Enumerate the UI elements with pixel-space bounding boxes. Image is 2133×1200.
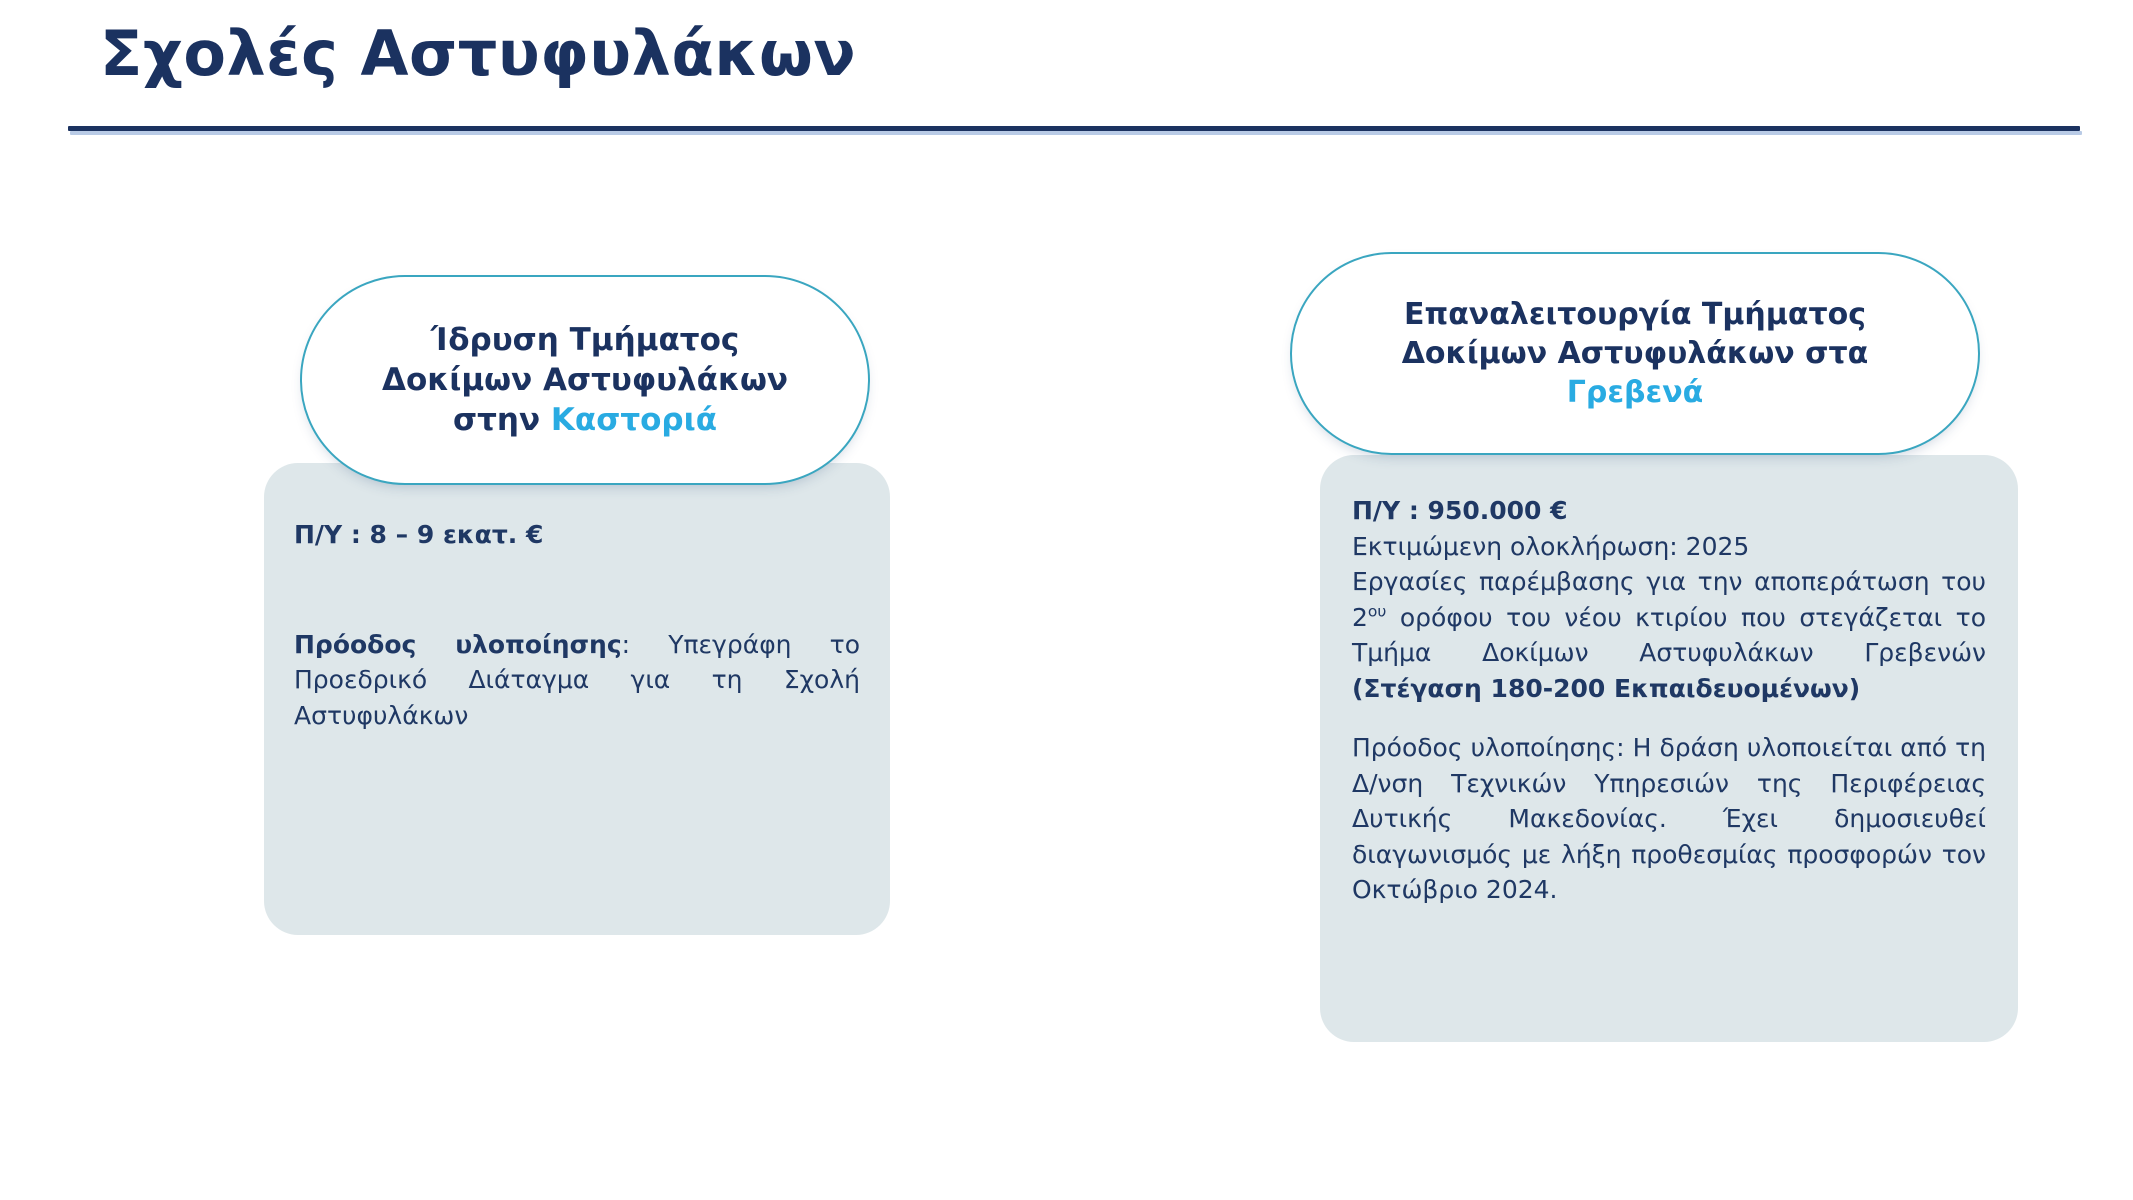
card-grevena-description: Εργασίες παρέμβασης για την αποπεράτωση …	[1352, 564, 1986, 706]
card-grevena-header-pill: Επαναλειτουργία Τμήματος Δοκίμων Αστυφυλ…	[1290, 252, 1980, 455]
card-kastoria-header-location: Καστοριά	[551, 402, 717, 438]
card-grevena: Π/Υ : 950.000 € Εκτιμώμενη ολοκλήρωση: 2…	[1290, 252, 2018, 1042]
card-kastoria: Π/Υ : 8 – 9 εκατ. € Πρόοδος υλοποίησης: …	[264, 275, 890, 935]
card-grevena-estimated-completion: Εκτιμώμενη ολοκλήρωση: 2025	[1352, 529, 1986, 565]
title-divider	[68, 126, 2080, 131]
card-grevena-header-text: Επαναλειτουργία Τμήματος Δοκίμων Αστυφυλ…	[1376, 295, 1895, 412]
card-kastoria-header-pill: Ίδρυση Τμήματος Δοκίμων Αστυφυλάκων στην…	[300, 275, 870, 485]
card-grevena-budget: Π/Υ : 950.000 €	[1352, 493, 1986, 529]
card-grevena-header-line2: Δοκίμων Αστυφυλάκων στα	[1402, 336, 1869, 371]
card-kastoria-progress: Πρόοδος υλοποίησης: Υπεγράφη το Προεδρικ…	[294, 627, 860, 734]
page-title-wrap: Σχολές Αστυφυλάκων	[68, 18, 2080, 89]
card-kastoria-header-line1: Ίδρυση Τμήματος	[431, 322, 740, 358]
card-grevena-description-capacity: (Στέγαση 180-200 Εκπαιδευομένων)	[1352, 674, 1860, 703]
card-kastoria-header-text: Ίδρυση Τμήματος Δοκίμων Αστυφυλάκων στην…	[356, 320, 814, 441]
card-kastoria-budget: Π/Υ : 8 – 9 εκατ. €	[294, 517, 860, 553]
card-grevena-header-location: Γρεβενά	[1567, 375, 1704, 410]
card-kastoria-content: Π/Υ : 8 – 9 εκατ. € Πρόοδος υλοποίησης: …	[294, 517, 860, 733]
card-kastoria-body: Π/Υ : 8 – 9 εκατ. € Πρόοδος υλοποίησης: …	[264, 463, 890, 935]
card-grevena-body: Π/Υ : 950.000 € Εκτιμώμενη ολοκλήρωση: 2…	[1320, 455, 2018, 1042]
card-kastoria-header-line2: Δοκίμων Αστυφυλάκων	[382, 362, 788, 398]
card-grevena-header-line1: Επαναλειτουργία Τμήματος	[1404, 297, 1866, 332]
card-grevena-description-ordinal-sup: ου	[1368, 602, 1386, 620]
spacer	[294, 553, 860, 627]
card-grevena-content: Π/Υ : 950.000 € Εκτιμώμενη ολοκλήρωση: 2…	[1352, 493, 1986, 908]
title-divider-shadow	[70, 131, 2082, 135]
spacer	[1352, 706, 1986, 730]
card-grevena-progress: Πρόοδος υλοποίησης: Η δράση υλοποιείται …	[1352, 730, 1986, 908]
page-title: Σχολές Αστυφυλάκων	[68, 18, 2080, 89]
card-grevena-description-part2: ορόφου του νέου κτιρίου που στεγάζεται τ…	[1352, 603, 1986, 668]
card-kastoria-header-line3-prefix: στην	[453, 402, 551, 438]
card-kastoria-progress-label: Πρόοδος υλοποίησης	[294, 630, 622, 659]
